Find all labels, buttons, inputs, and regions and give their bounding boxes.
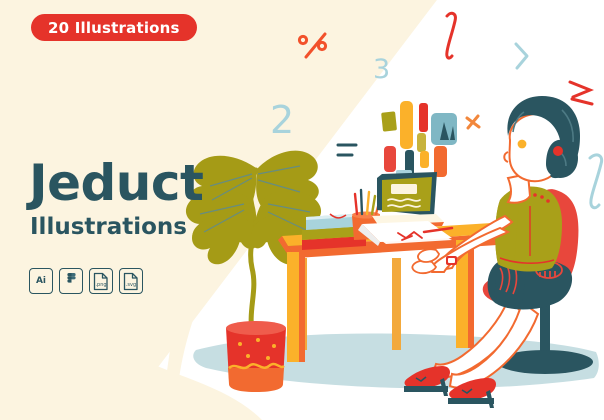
illustration-count-badge: 20 Illustrations: [31, 14, 197, 41]
earring: [553, 146, 563, 156]
svg-text:.svg: .svg: [126, 282, 136, 288]
ai-format-badge[interactable]: Ai: [29, 268, 53, 294]
figma-format-badge[interactable]: [59, 268, 83, 294]
illustration-preview-canvas: 3 2: [0, 0, 604, 420]
red-high-heel-left: [404, 366, 450, 396]
svg-text:.png: .png: [95, 282, 106, 288]
svg-format-badge[interactable]: .svg: [119, 268, 143, 294]
eye: [518, 140, 527, 149]
text-column: 20 Illustrations Jeduct Illustrations Ai: [0, 0, 230, 420]
figma-icon: [66, 273, 77, 289]
png-format-badge[interactable]: .png: [89, 268, 113, 294]
page-subtitle: Illustrations: [30, 216, 187, 239]
file-format-badges: Ai .png: [29, 268, 143, 294]
png-file-icon: .png: [93, 272, 109, 291]
wristwatch: [446, 256, 457, 265]
svg-file-icon: .svg: [123, 272, 139, 291]
ai-format-label: Ai: [36, 277, 46, 286]
page-title: Jeduct: [29, 158, 203, 208]
